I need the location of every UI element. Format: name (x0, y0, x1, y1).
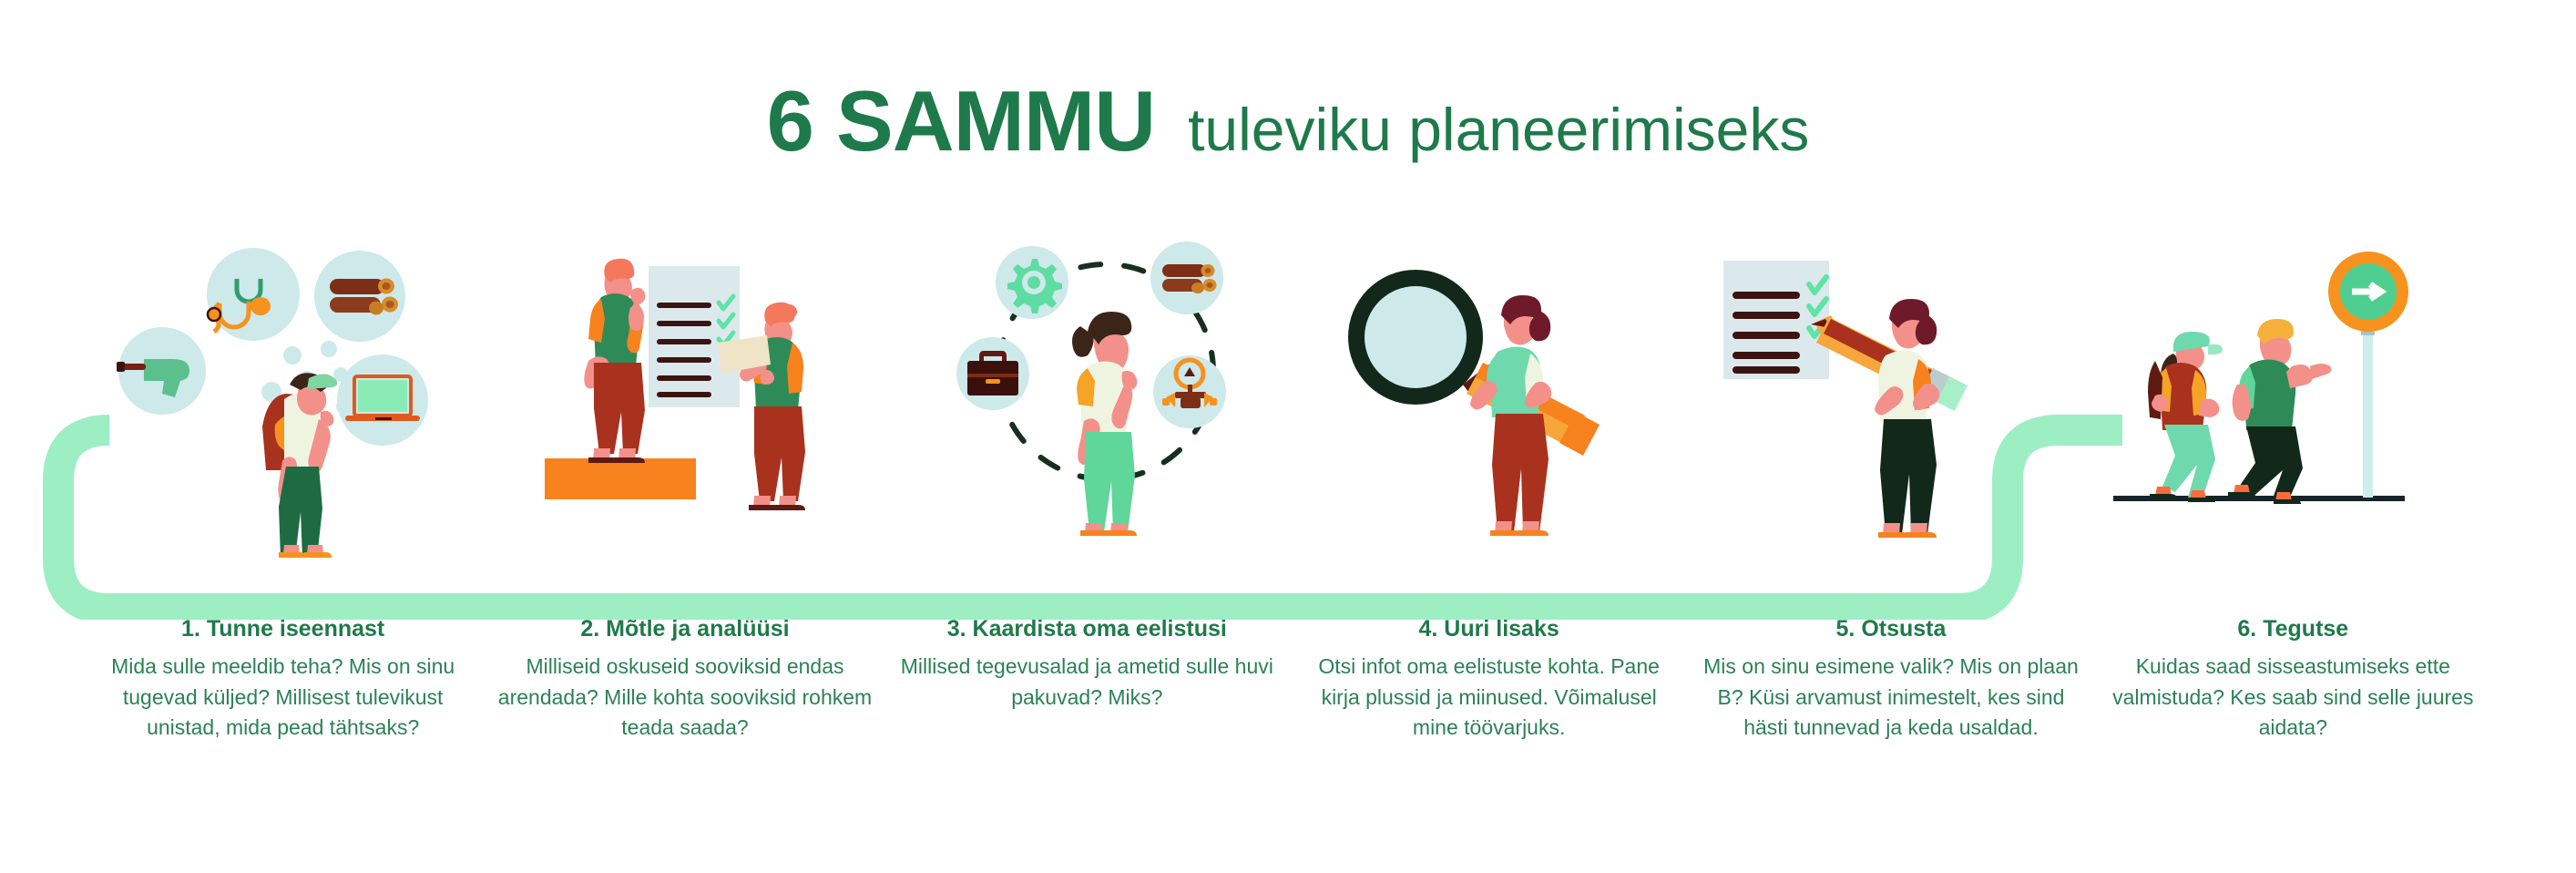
briefcase-icon (956, 337, 1029, 410)
illustration-band (0, 246, 2576, 547)
arrow-right-sign-icon (2328, 252, 2408, 498)
stethoscope-icon (207, 248, 300, 341)
person-figure-boy (2228, 319, 2332, 504)
illustration-step-4 (1303, 246, 1685, 547)
caption-body: Mida sulle meeldib teha? Mis on sinu tug… (95, 652, 471, 743)
laptop-icon (337, 354, 428, 446)
caption-step-5: 5. Otsusta Mis on sinu esimene valik? Mi… (1690, 615, 2091, 743)
person-figure-left (584, 259, 645, 463)
caption-step-6: 6. Tegutse Kuidas saad sisseastumiseks e… (2092, 615, 2494, 743)
caption-title: 1. Tunne iseennast (95, 615, 471, 643)
step-captions: 1. Tunne iseennast Mida sulle meeldib te… (0, 615, 2576, 743)
checklist-board-icon (649, 266, 740, 407)
caption-title: 3. Kaardista oma eelistusi (899, 615, 1275, 643)
illustration-step-3 (927, 246, 1310, 547)
caption-title: 5. Otsusta (1702, 615, 2079, 643)
illustration-step-6 (2113, 246, 2541, 547)
logs-icon (314, 251, 405, 342)
page-title: 6 SAMMU tuleviku planeerimiseks (0, 78, 2576, 164)
title-main: 6 SAMMU (767, 78, 1155, 164)
podium (545, 458, 696, 499)
caption-title: 4. Uuri lisaks (1301, 615, 1677, 643)
caption-body: Otsi infot oma eelistuste kohta. Pane ki… (1301, 652, 1677, 743)
person-figure (1072, 312, 1137, 536)
caption-step-2: 2. Mõtle ja analüüsi Milliseid oskuseid … (484, 615, 885, 743)
checklist-icon (1723, 261, 1829, 379)
illustration-step-5 (1685, 246, 2068, 547)
caption-step-3: 3. Kaardista oma eelistusi Millised tege… (886, 615, 1288, 713)
title-subtitle: tuleviku planeerimiseks (1188, 99, 1809, 159)
person-figure-girl (2148, 332, 2223, 502)
person-figure (1875, 299, 1939, 538)
illustration-step-2 (510, 246, 893, 547)
infographic-page: 6 SAMMU tuleviku planeerimiseks (0, 0, 2576, 873)
caption-step-4: 4. Uuri lisaks Otsi infot oma eelistuste… (1288, 615, 1690, 743)
caption-body: Milliseid oskuseid sooviksid endas arend… (496, 652, 873, 743)
gear-icon (996, 246, 1068, 319)
illustration-step-1 (82, 246, 465, 547)
magnifier-icon (1348, 270, 1483, 405)
valve-icon (1153, 355, 1226, 428)
caption-title: 6. Tegutse (2105, 615, 2481, 643)
caption-step-1: 1. Tunne iseennast Mida sulle meeldib te… (82, 615, 484, 743)
person-figure (262, 373, 337, 558)
caption-body: Millised tegevusalad ja ametid sulle huv… (899, 652, 1275, 713)
caption-body: Mis on sinu esimene valik? Mis on plaan … (1702, 652, 2079, 743)
caption-body: Kuidas saad sisseastumiseks ette valmist… (2105, 652, 2481, 743)
caption-title: 2. Mõtle ja analüüsi (496, 615, 873, 643)
drill-icon (117, 327, 206, 415)
logs-icon (1150, 241, 1223, 314)
